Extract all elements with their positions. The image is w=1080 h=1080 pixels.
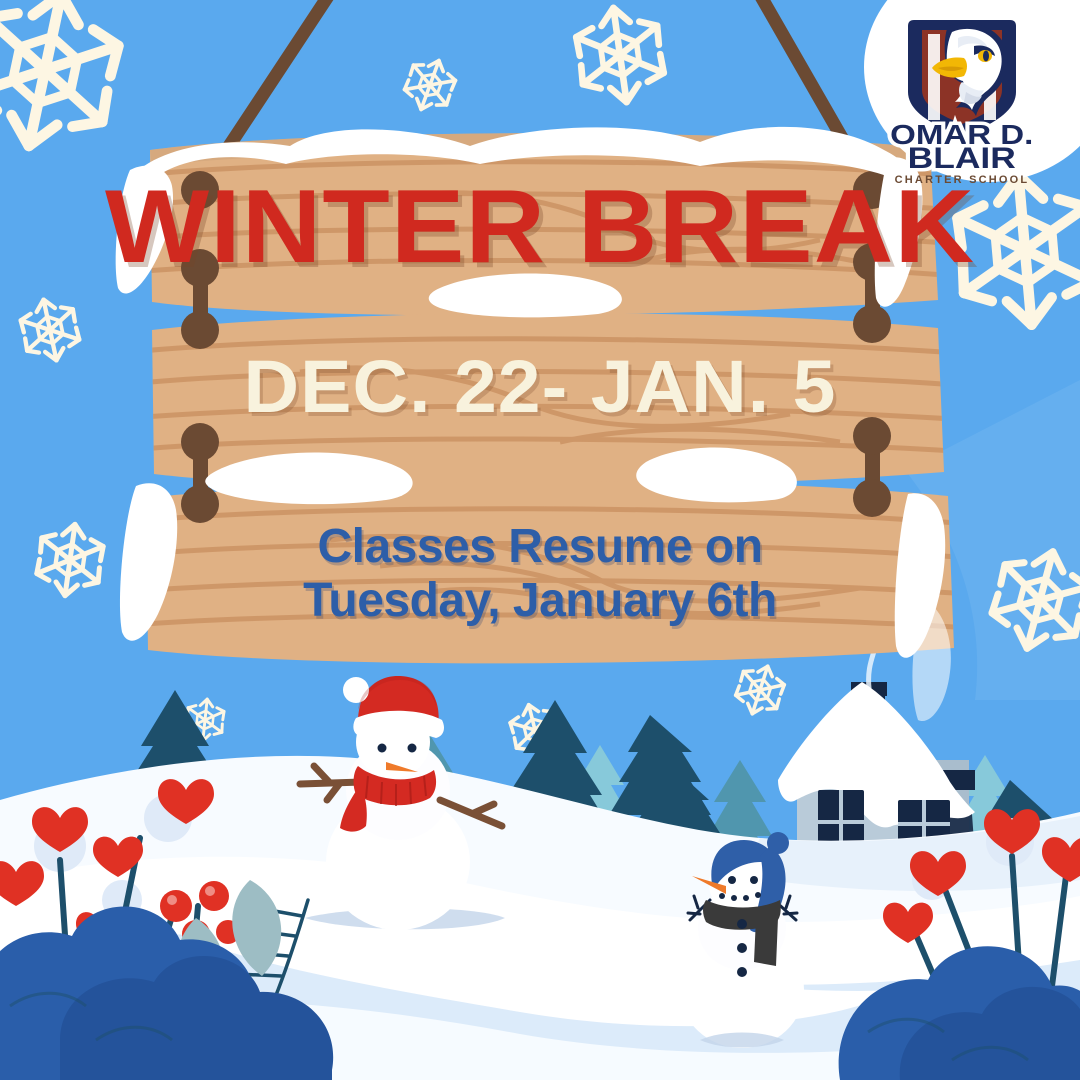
winter-break-poster: WINTER BREAK DEC. 22- JAN. 5 Classes Res… [0, 0, 1080, 1080]
resume-line-1: Classes Resume on [0, 520, 1080, 574]
svg-text:CHARTER SCHOOL: CHARTER SCHOOL [895, 174, 1030, 186]
classes-resume-text: Classes Resume on Tuesday, January 6th [0, 520, 1080, 628]
school-logo: OMAR D. BLAIR CHARTER SCHOOL [852, 0, 1072, 186]
svg-text:BLAIR: BLAIR [908, 141, 1016, 175]
resume-line-2: Tuesday, January 6th [0, 574, 1080, 628]
logo-wordmark: OMAR D. BLAIR CHARTER SCHOOL [890, 119, 1033, 186]
